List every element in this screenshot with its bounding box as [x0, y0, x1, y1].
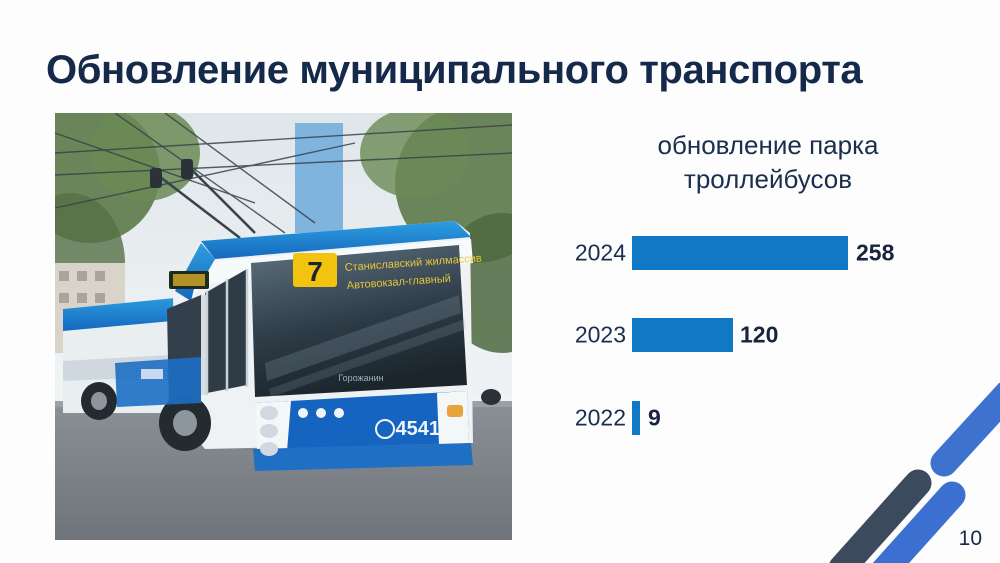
chart-category-label-2024: 2024 — [548, 240, 626, 267]
chart-category-label-2023: 2023 — [548, 322, 626, 349]
stripe-dark — [842, 483, 918, 563]
chart-bar-2022[interactable] — [632, 401, 640, 435]
page-number: 10 — [959, 527, 982, 551]
chart-title: обновление парка троллейбусов — [608, 128, 928, 196]
chart-row-2023: 2023 120 — [548, 315, 968, 355]
chart-value-label-2023: 120 — [740, 322, 778, 349]
chart-value-label-2022: 9 — [648, 405, 661, 432]
chart-bar-wrap-2023 — [632, 318, 733, 352]
page-title: Обновление муниципального транспорта — [46, 48, 862, 93]
chart-bar-2024[interactable] — [632, 236, 848, 270]
chart-title-line-2: троллейбусов — [608, 162, 928, 196]
stripe-blue — [882, 495, 952, 563]
chart-category-label-2022: 2022 — [548, 405, 626, 432]
trolleybus-renewal-chart: обновление парка троллейбусов 2024 258 2… — [548, 128, 968, 448]
slide-canvas: Обновление муниципального транспорта — [0, 0, 1000, 563]
svg-text:7: 7 — [307, 256, 323, 287]
svg-text:Горожанин: Горожанин — [338, 373, 383, 383]
chart-bar-2023[interactable] — [632, 318, 733, 352]
svg-text:4541: 4541 — [396, 418, 441, 440]
chart-bar-wrap-2022 — [632, 401, 640, 435]
trolleybus-photo: 7 Станиславский жилмассив Автовокзал-гла… — [55, 113, 512, 540]
chart-row-2024: 2024 258 — [548, 233, 968, 273]
chart-title-line-1: обновление парка — [608, 128, 928, 162]
trolleybus-photo-illustration: 7 Станиславский жилмассив Автовокзал-гла… — [55, 113, 512, 540]
chart-value-label-2024: 258 — [856, 240, 894, 267]
chart-bar-wrap-2024 — [632, 236, 848, 270]
chart-row-2022: 2022 9 — [548, 398, 968, 438]
